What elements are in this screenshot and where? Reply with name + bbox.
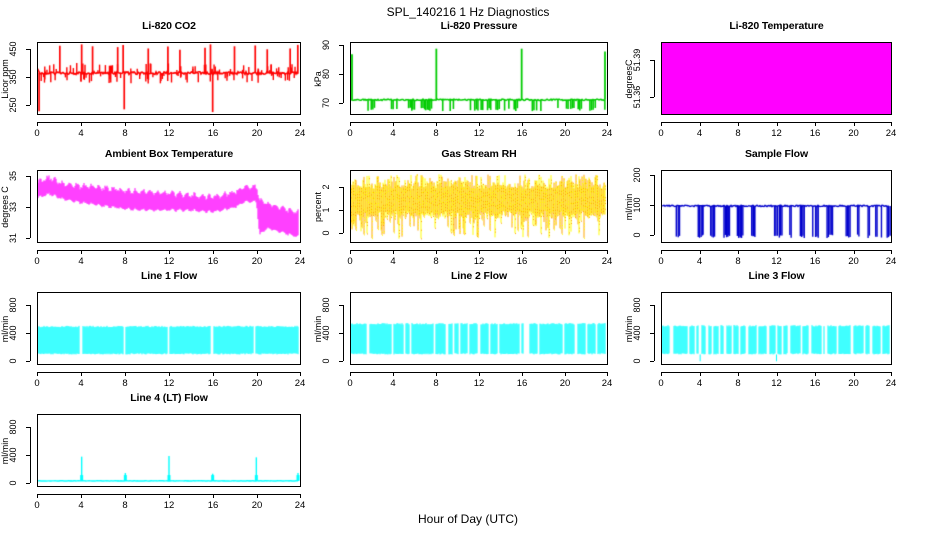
x-tick-mark xyxy=(81,372,82,376)
x-tick-label: 16 xyxy=(508,378,536,389)
chart-panel-1: Li-820 CO2250350450Licor ppm04812162024 xyxy=(0,20,301,148)
y-tick-mark xyxy=(339,187,343,188)
y-tick-mark xyxy=(650,235,654,236)
x-tick-mark xyxy=(169,372,170,376)
x-tick-label: 4 xyxy=(686,378,714,389)
x-tick-label: 8 xyxy=(422,128,450,139)
y-tick-label: 0 xyxy=(630,222,644,248)
x-tick-mark xyxy=(213,122,214,126)
y-tick-mark xyxy=(26,427,30,428)
x-tick-label: 12 xyxy=(155,128,183,139)
x-tick-mark xyxy=(738,372,739,376)
x-tick-label: 4 xyxy=(686,256,714,267)
figure-title: SPL_140216 1 Hz Diagnostics xyxy=(0,5,936,19)
x-tick-mark xyxy=(257,372,258,376)
y-tick-mark xyxy=(339,210,343,211)
plot-area xyxy=(37,292,301,365)
x-tick-label: 0 xyxy=(336,128,364,139)
x-tick-label: 20 xyxy=(551,378,579,389)
x-tick-label: 0 xyxy=(647,256,675,267)
plot-area xyxy=(350,42,608,115)
y-axis-label: ml/min xyxy=(624,193,634,220)
x-tick-mark xyxy=(37,372,38,376)
x-tick-label: 0 xyxy=(23,378,51,389)
x-tick-label: 20 xyxy=(243,256,271,267)
x-tick-mark xyxy=(37,122,38,126)
x-tick-label: 8 xyxy=(422,378,450,389)
x-tick-mark xyxy=(777,122,778,126)
plot-area xyxy=(37,42,301,115)
diagnostics-figure: SPL_140216 1 Hz Diagnostics Li-820 CO225… xyxy=(0,0,936,540)
y-axis-label: ml/min xyxy=(624,315,634,342)
x-tick-label: 8 xyxy=(724,256,752,267)
panel-title: Line 2 Flow xyxy=(350,270,608,282)
x-tick-mark xyxy=(661,250,662,254)
x-tick-label: 16 xyxy=(199,500,227,511)
data-trace xyxy=(351,293,607,364)
x-tick-mark xyxy=(891,250,892,254)
x-tick-label: 0 xyxy=(647,128,675,139)
y-tick-mark xyxy=(26,238,30,239)
y-tick-mark xyxy=(650,60,654,61)
x-tick-mark xyxy=(125,494,126,498)
x-tick-mark xyxy=(37,250,38,254)
plot-area xyxy=(661,170,892,243)
chart-panel-9: Line 3 Flow0400800ml/min04812162024 xyxy=(624,270,892,398)
plot-area xyxy=(350,170,608,243)
x-tick-label: 12 xyxy=(155,256,183,267)
y-tick-mark xyxy=(339,361,343,362)
y-tick-mark xyxy=(650,305,654,306)
x-tick-mark xyxy=(854,122,855,126)
x-tick-label: 16 xyxy=(801,128,829,139)
y-tick-mark xyxy=(339,103,343,104)
x-tick-label: 0 xyxy=(23,500,51,511)
x-tick-label: 0 xyxy=(23,256,51,267)
figure-xaxis-label: Hour of Day (UTC) xyxy=(0,512,936,526)
x-tick-mark xyxy=(300,494,301,498)
y-tick-label: 0 xyxy=(319,220,333,246)
y-axis-line xyxy=(30,427,31,483)
x-tick-mark xyxy=(479,250,480,254)
data-trace xyxy=(351,171,607,242)
x-tick-label: 4 xyxy=(67,128,95,139)
y-tick-label: 800 xyxy=(319,292,333,318)
x-tick-label: 20 xyxy=(243,500,271,511)
y-axis-line xyxy=(30,176,31,238)
x-tick-mark xyxy=(607,372,608,376)
y-tick-mark xyxy=(650,175,654,176)
panel-title: Li-820 Pressure xyxy=(350,20,608,32)
x-tick-mark xyxy=(393,372,394,376)
y-axis-label: ml/min xyxy=(313,315,323,342)
y-tick-label: 0 xyxy=(6,348,20,374)
x-tick-mark xyxy=(607,122,608,126)
x-tick-label: 12 xyxy=(155,500,183,511)
y-tick-mark xyxy=(26,176,30,177)
plot-area xyxy=(350,292,608,365)
x-tick-mark xyxy=(125,250,126,254)
panel-title: Li-820 Temperature xyxy=(661,20,892,32)
y-tick-label: 0 xyxy=(319,348,333,374)
x-tick-mark xyxy=(169,122,170,126)
chart-panel-6: Sample Flow0100200ml/min04812162024 xyxy=(624,148,892,276)
x-tick-label: 16 xyxy=(508,256,536,267)
x-tick-mark xyxy=(37,494,38,498)
panel-title: Gas Stream RH xyxy=(350,148,608,160)
plot-area xyxy=(661,42,892,115)
x-tick-label: 24 xyxy=(286,256,314,267)
x-tick-mark xyxy=(436,250,437,254)
x-tick-label: 20 xyxy=(840,128,868,139)
x-tick-label: 16 xyxy=(801,256,829,267)
x-tick-mark xyxy=(661,122,662,126)
plot-area xyxy=(37,414,301,487)
y-tick-label: 800 xyxy=(630,292,644,318)
x-tick-label: 24 xyxy=(593,256,621,267)
x-tick-label: 16 xyxy=(199,128,227,139)
x-tick-mark xyxy=(777,250,778,254)
x-tick-mark xyxy=(854,250,855,254)
y-axis-line xyxy=(30,49,31,105)
x-tick-label: 16 xyxy=(199,256,227,267)
x-tick-mark xyxy=(700,250,701,254)
x-tick-mark xyxy=(125,372,126,376)
x-tick-label: 8 xyxy=(724,378,752,389)
x-tick-mark xyxy=(661,372,662,376)
y-tick-label: 800 xyxy=(6,414,20,440)
y-axis-label: ml/min xyxy=(0,437,10,464)
y-axis-label: ml/min xyxy=(0,315,10,342)
y-axis-label: kPa xyxy=(313,71,323,87)
y-tick-mark xyxy=(339,233,343,234)
x-tick-mark xyxy=(257,250,258,254)
x-tick-mark xyxy=(81,122,82,126)
x-tick-mark xyxy=(854,372,855,376)
y-tick-mark xyxy=(26,49,30,50)
x-tick-mark xyxy=(522,250,523,254)
x-tick-mark xyxy=(213,250,214,254)
x-tick-mark xyxy=(479,122,480,126)
y-tick-label: 450 xyxy=(6,36,20,62)
x-tick-label: 12 xyxy=(155,378,183,389)
y-tick-label: 90 xyxy=(319,32,333,58)
x-tick-mark xyxy=(815,122,816,126)
y-axis-line xyxy=(654,60,655,97)
x-tick-label: 0 xyxy=(336,378,364,389)
x-tick-mark xyxy=(522,372,523,376)
data-trace xyxy=(38,415,300,486)
x-tick-mark xyxy=(700,372,701,376)
x-tick-label: 12 xyxy=(763,256,791,267)
data-trace xyxy=(351,43,607,114)
y-tick-label: 70 xyxy=(319,90,333,116)
x-tick-label: 8 xyxy=(111,378,139,389)
y-axis-line xyxy=(654,305,655,361)
y-tick-mark xyxy=(650,361,654,362)
y-tick-label: 800 xyxy=(6,292,20,318)
x-tick-mark xyxy=(565,122,566,126)
x-tick-mark xyxy=(738,122,739,126)
y-tick-mark xyxy=(26,455,30,456)
x-tick-label: 4 xyxy=(379,256,407,267)
x-tick-mark xyxy=(350,250,351,254)
x-tick-mark xyxy=(81,250,82,254)
x-tick-mark xyxy=(565,372,566,376)
x-tick-label: 4 xyxy=(67,500,95,511)
y-tick-label: 200 xyxy=(630,162,644,188)
x-tick-label: 12 xyxy=(465,378,493,389)
y-tick-mark xyxy=(26,207,30,208)
y-tick-label: 0 xyxy=(630,348,644,374)
x-tick-mark xyxy=(700,122,701,126)
y-tick-mark xyxy=(26,361,30,362)
x-tick-mark xyxy=(300,122,301,126)
x-tick-mark xyxy=(815,372,816,376)
y-axis-label: percent xyxy=(313,191,323,221)
x-tick-label: 20 xyxy=(840,378,868,389)
x-tick-label: 8 xyxy=(111,500,139,511)
x-tick-mark xyxy=(213,372,214,376)
x-tick-mark xyxy=(81,494,82,498)
x-tick-label: 24 xyxy=(593,378,621,389)
y-tick-mark xyxy=(650,97,654,98)
x-tick-label: 20 xyxy=(840,256,868,267)
x-tick-label: 20 xyxy=(243,378,271,389)
panel-title: Line 1 Flow xyxy=(37,270,301,282)
y-axis-label: degreesC xyxy=(624,59,634,98)
x-tick-mark xyxy=(350,122,351,126)
panel-title: Li-820 CO2 xyxy=(37,20,301,32)
y-axis-line xyxy=(343,187,344,233)
y-tick-mark xyxy=(26,333,30,334)
y-tick-mark xyxy=(339,305,343,306)
x-tick-label: 4 xyxy=(67,256,95,267)
x-tick-label: 16 xyxy=(508,128,536,139)
y-axis-line xyxy=(343,45,344,103)
x-tick-label: 20 xyxy=(551,128,579,139)
x-tick-mark xyxy=(777,372,778,376)
x-tick-label: 24 xyxy=(877,256,905,267)
y-axis-label: degrees C xyxy=(0,186,10,228)
x-tick-mark xyxy=(393,250,394,254)
x-tick-label: 8 xyxy=(724,128,752,139)
y-tick-label: 31 xyxy=(6,225,20,251)
x-tick-label: 24 xyxy=(286,128,314,139)
panel-title: Line 3 Flow xyxy=(661,270,892,282)
y-axis-line xyxy=(343,305,344,361)
x-tick-mark xyxy=(891,372,892,376)
chart-panel-7: Line 1 Flow0400800ml/min04812162024 xyxy=(0,270,301,398)
y-tick-mark xyxy=(339,333,343,334)
panel-title: Line 4 (LT) Flow xyxy=(37,392,301,404)
chart-panel-2: Li-820 Pressure708090kPa04812162024 xyxy=(313,20,608,148)
x-tick-mark xyxy=(257,494,258,498)
panel-title: Ambient Box Temperature xyxy=(37,148,301,160)
x-tick-label: 4 xyxy=(686,128,714,139)
x-tick-mark xyxy=(350,372,351,376)
chart-panel-4: Ambient Box Temperature313335degrees C04… xyxy=(0,148,301,276)
x-tick-mark xyxy=(522,122,523,126)
x-tick-label: 8 xyxy=(111,256,139,267)
y-tick-mark xyxy=(26,77,30,78)
y-axis-line xyxy=(654,175,655,236)
data-trace xyxy=(38,43,300,114)
x-tick-mark xyxy=(738,250,739,254)
x-tick-mark xyxy=(169,250,170,254)
x-tick-label: 24 xyxy=(593,128,621,139)
y-axis-label: Licor ppm xyxy=(0,59,10,99)
y-tick-label: 0 xyxy=(6,470,20,496)
x-tick-label: 24 xyxy=(286,500,314,511)
x-tick-label: 24 xyxy=(286,378,314,389)
x-tick-mark xyxy=(607,250,608,254)
panel-title: Sample Flow xyxy=(661,148,892,160)
x-tick-label: 0 xyxy=(647,378,675,389)
x-tick-label: 12 xyxy=(763,378,791,389)
x-tick-label: 12 xyxy=(465,128,493,139)
chart-panel-3: Li-820 Temperature51.3651.39degreesC0481… xyxy=(624,20,892,148)
x-tick-mark xyxy=(565,250,566,254)
data-trace xyxy=(662,293,891,364)
y-tick-mark xyxy=(26,305,30,306)
x-tick-mark xyxy=(125,122,126,126)
y-tick-mark xyxy=(26,483,30,484)
plot-area xyxy=(661,292,892,365)
y-axis-line xyxy=(30,305,31,361)
x-tick-label: 12 xyxy=(465,256,493,267)
x-tick-label: 8 xyxy=(111,128,139,139)
x-tick-label: 4 xyxy=(67,378,95,389)
x-tick-label: 12 xyxy=(763,128,791,139)
x-tick-label: 24 xyxy=(877,128,905,139)
y-tick-mark xyxy=(339,45,343,46)
x-tick-label: 24 xyxy=(877,378,905,389)
x-tick-label: 0 xyxy=(23,128,51,139)
x-tick-mark xyxy=(393,122,394,126)
plot-area xyxy=(37,170,301,243)
x-tick-label: 8 xyxy=(422,256,450,267)
x-tick-mark xyxy=(479,372,480,376)
chart-panel-10: Line 4 (LT) Flow0400800ml/min04812162024 xyxy=(0,392,301,520)
x-tick-label: 4 xyxy=(379,128,407,139)
y-tick-mark xyxy=(26,105,30,106)
y-tick-mark xyxy=(650,205,654,206)
y-tick-mark xyxy=(650,333,654,334)
data-trace xyxy=(662,171,891,242)
data-trace xyxy=(38,171,300,242)
x-tick-mark xyxy=(213,494,214,498)
x-tick-mark xyxy=(815,250,816,254)
x-tick-label: 4 xyxy=(379,378,407,389)
chart-panel-8: Line 2 Flow0400800ml/min04812162024 xyxy=(313,270,608,398)
x-tick-mark xyxy=(436,122,437,126)
chart-panel-5: Gas Stream RH012percent04812162024 xyxy=(313,148,608,276)
x-tick-label: 16 xyxy=(801,378,829,389)
x-tick-mark xyxy=(891,122,892,126)
data-trace xyxy=(38,293,300,364)
x-tick-mark xyxy=(300,250,301,254)
x-tick-label: 0 xyxy=(336,256,364,267)
x-tick-label: 20 xyxy=(243,128,271,139)
x-tick-mark xyxy=(257,122,258,126)
y-tick-mark xyxy=(339,74,343,75)
data-trace xyxy=(662,43,891,114)
x-tick-mark xyxy=(436,372,437,376)
x-tick-mark xyxy=(169,494,170,498)
x-tick-label: 20 xyxy=(551,256,579,267)
x-tick-mark xyxy=(300,372,301,376)
x-tick-label: 16 xyxy=(199,378,227,389)
